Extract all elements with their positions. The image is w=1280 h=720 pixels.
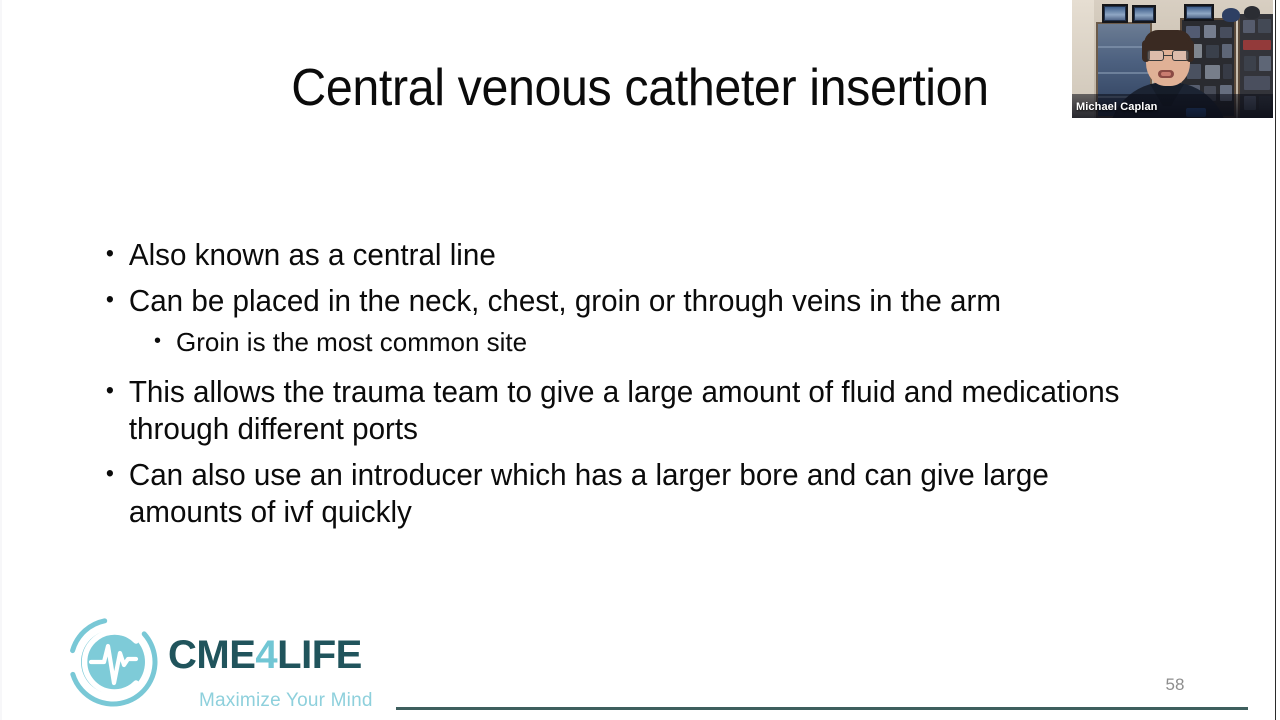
page-number: 58 <box>1150 675 1200 695</box>
framed-photo <box>1184 4 1214 21</box>
slide-title: Central venous catheter insertion <box>45 58 1235 118</box>
footer-divider <box>396 707 1248 710</box>
bullet-item: Also known as a central line <box>104 236 1126 273</box>
helmet-display <box>1244 6 1260 19</box>
slide-right-edge <box>1275 0 1276 720</box>
webcam-video-feed: Michael Caplan <box>1072 0 1273 118</box>
cme4life-logo: CME4LIFE Maximize Your Mind <box>64 612 404 716</box>
presentation-slide: Central venous catheter insertion Also k… <box>0 0 1280 720</box>
logo-wordmark: CME4LIFE <box>168 634 362 676</box>
presenter-name-label: Michael Caplan <box>1076 101 1157 113</box>
slide-left-edge <box>0 0 2 720</box>
glasses-icon <box>1147 50 1189 61</box>
bullet-item: Can be placed in the neck, chest, groin … <box>104 282 1126 319</box>
logo-word-four: 4 <box>255 633 277 677</box>
logo-word-cme: CME <box>168 633 255 677</box>
framed-photo <box>1102 4 1128 23</box>
bullet-item-sub: Groin is the most common site <box>154 325 1174 359</box>
logo-tagline: Maximize Your Mind <box>199 690 373 712</box>
hair <box>1144 30 1192 50</box>
presenter-webcam-overlay[interactable]: Michael Caplan <box>1072 0 1273 118</box>
bullet-item: Can also use an introducer which has a l… <box>104 456 1126 530</box>
mouth-inner <box>1161 72 1171 76</box>
heartbeat-circle-icon <box>66 615 160 709</box>
slide-body: Also known as a central line Can be plac… <box>104 236 1174 539</box>
logo-word-life: LIFE <box>277 633 362 677</box>
bullet-item: This allows the trauma team to give a la… <box>104 373 1126 447</box>
framed-photo <box>1132 5 1156 23</box>
helmet-display <box>1222 8 1240 22</box>
